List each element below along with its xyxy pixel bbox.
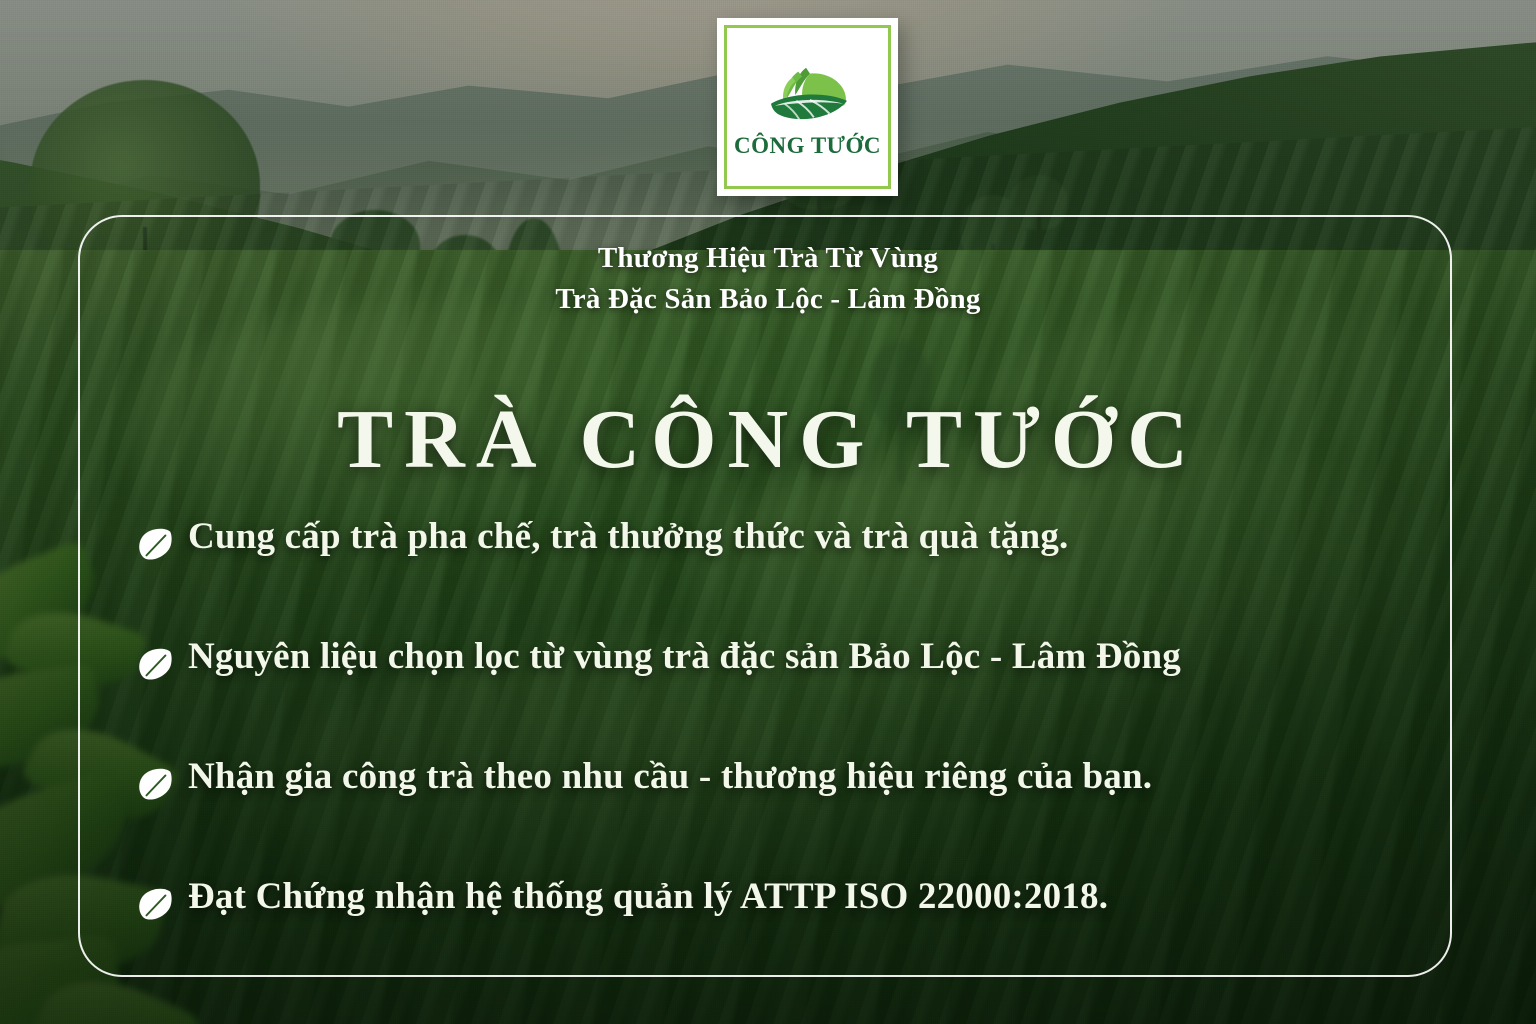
tagline-line-2: Trà Đặc Sản Bảo Lộc - Lâm Đồng	[0, 279, 1536, 320]
list-item-label: Nhận gia công trà theo nhu cầu - thương …	[188, 758, 1152, 797]
leaf-bullet-icon	[136, 525, 174, 563]
feature-list: Cung cấp trà pha chế, trà thưởng thức và…	[136, 518, 1446, 998]
page-title: TRÀ CÔNG TƯỚC	[0, 398, 1536, 482]
list-item: Nguyên liệu chọn lọc từ vùng trà đặc sản…	[136, 638, 1446, 758]
leaf-bullet-icon	[136, 885, 174, 923]
tagline-line-1: Thương Hiệu Trà Từ Vùng	[0, 238, 1536, 279]
leaf-bullet-icon	[136, 765, 174, 803]
list-item-label: Đạt Chứng nhận hệ thống quản lý ATTP ISO…	[188, 878, 1108, 917]
list-item-label: Nguyên liệu chọn lọc từ vùng trà đặc sản…	[188, 638, 1181, 677]
poster-content: Thương Hiệu Trà Từ Vùng Trà Đặc Sản Bảo …	[0, 0, 1536, 1024]
list-item-label: Cung cấp trà pha chế, trà thưởng thức và…	[188, 518, 1068, 557]
list-item: Đạt Chứng nhận hệ thống quản lý ATTP ISO…	[136, 878, 1446, 998]
tagline-block: Thương Hiệu Trà Từ Vùng Trà Đặc Sản Bảo …	[0, 238, 1536, 320]
list-item: Cung cấp trà pha chế, trà thưởng thức và…	[136, 518, 1446, 638]
leaf-bullet-icon	[136, 645, 174, 683]
tea-brand-poster: CÔNG TƯỚC Thương Hiệu Trà Từ Vùng Trà Đặ…	[0, 0, 1536, 1024]
list-item: Nhận gia công trà theo nhu cầu - thương …	[136, 758, 1446, 878]
